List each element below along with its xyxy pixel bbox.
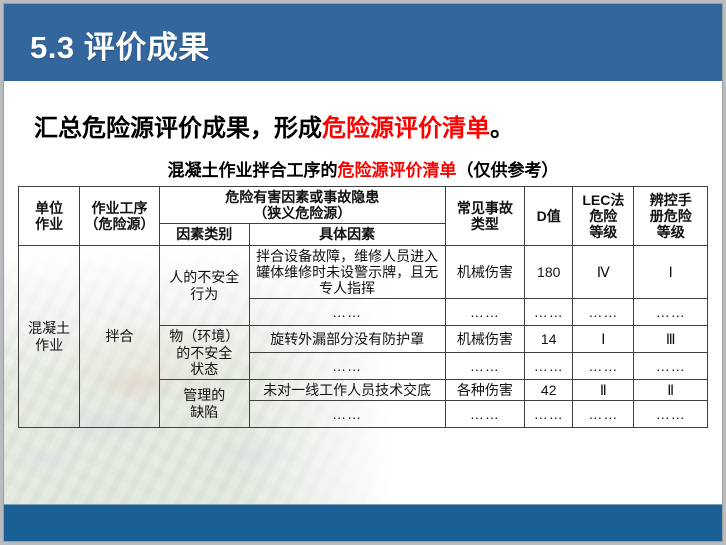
table-caption: 混凝土作业拌合工序的危险源评价清单（仅供参考） <box>4 156 722 181</box>
cell-lec-level-2: Ⅰ <box>573 326 634 353</box>
header-hazard-group-line2: （狭义危险源） <box>163 205 442 221</box>
cell-manual-level-3: Ⅱ <box>634 380 708 401</box>
cell-process-value: 拌合 <box>80 245 160 428</box>
risk-evaluation-table: 单位 作业 作业工序 （危险源） 危险有害因素或事故隐患 （狭义危险源） 常见事… <box>18 186 708 428</box>
cell-specific-factor-1-more: …… <box>249 299 445 326</box>
page-title: 5.3 评价成果 <box>30 22 210 67</box>
cell-accident-type-2: 机械伤害 <box>445 326 525 353</box>
cell-lec-level-1-more: …… <box>573 299 634 326</box>
header-manual-level: 辨控手 册危险 等级 <box>634 187 708 246</box>
header-accident-type-line2: 类型 <box>449 216 522 232</box>
factor-category-2-line3: 状态 <box>163 361 246 377</box>
header-hazard-group: 危险有害因素或事故隐患 （狭义危险源） <box>159 187 445 224</box>
slide-canvas: 5.3 评价成果 汇总危险源评价成果，形成危险源评价清单。 混凝土作业拌合工序的… <box>4 4 722 541</box>
cell-factor-category-3: 管理的 缺陷 <box>159 380 249 428</box>
header-unit-work: 单位 作业 <box>19 187 80 246</box>
header-process-line2: （危险源） <box>83 216 156 232</box>
cell-d-value-1: 180 <box>525 245 573 299</box>
cell-lec-level-1: Ⅳ <box>573 245 634 299</box>
cell-factor-category-1: 人的不安全 行为 <box>159 245 249 326</box>
table-header-row-1: 单位 作业 作业工序 （危险源） 危险有害因素或事故隐患 （狭义危险源） 常见事… <box>19 187 708 224</box>
cell-manual-level-2-more: …… <box>634 353 708 380</box>
cell-lec-level-3-more: …… <box>573 401 634 428</box>
cell-lec-level-3: Ⅱ <box>573 380 634 401</box>
headline-prefix: 汇总危险源评价成果，形成 <box>34 115 322 142</box>
cell-accident-type-3-more: …… <box>445 401 525 428</box>
cell-unit-work-value: 混凝土 作业 <box>19 245 80 428</box>
cell-specific-factor-1: 拌合设备故障，维修人员进入罐体维修时未设警示牌，且无专人指挥 <box>249 245 445 299</box>
header-d-value: D值 <box>525 187 573 246</box>
factor-category-2-line1: 物（环境） <box>163 328 246 344</box>
caption-highlight: 危险源评价清单 <box>338 161 457 180</box>
caption-prefix: 混凝土作业拌合工序的 <box>168 161 338 180</box>
cell-specific-factor-3-more: …… <box>249 401 445 428</box>
header-unit-work-line1: 单位 <box>22 200 76 216</box>
cell-specific-factor-3: 未对一线工作人员技术交底 <box>249 380 445 401</box>
cell-manual-level-3-more: …… <box>634 401 708 428</box>
headline-suffix: 。 <box>490 115 514 142</box>
cell-manual-level-2: Ⅲ <box>634 326 708 353</box>
caption-suffix: （仅供参考） <box>457 161 559 180</box>
header-lec-level-line3: 等级 <box>576 224 630 240</box>
header-manual-level-line2: 册危险 <box>637 208 704 224</box>
cell-accident-type-1: 机械伤害 <box>445 245 525 299</box>
cell-d-value-3: 42 <box>525 380 573 401</box>
cell-accident-type-1-more: …… <box>445 299 525 326</box>
cell-factor-category-2: 物（环境） 的不安全 状态 <box>159 326 249 380</box>
cell-d-value-2: 14 <box>525 326 573 353</box>
header-accident-type: 常见事故 类型 <box>445 187 525 246</box>
slide-title-bar: 5.3 评价成果 <box>4 4 722 81</box>
header-hazard-group-line1: 危险有害因素或事故隐患 <box>163 189 442 205</box>
headline: 汇总危险源评价成果，形成危险源评价清单。 <box>34 108 514 143</box>
header-accident-type-line1: 常见事故 <box>449 200 522 216</box>
cell-manual-level-1-more: …… <box>634 299 708 326</box>
header-process-line1: 作业工序 <box>83 200 156 216</box>
headline-highlight: 危险源评价清单 <box>322 115 490 142</box>
cell-d-value-1-more: …… <box>525 299 573 326</box>
header-factor-category: 因素类别 <box>159 224 249 245</box>
factor-category-1-line2: 行为 <box>163 286 246 302</box>
header-lec-level: LEC法 危险 等级 <box>573 187 634 246</box>
cell-accident-type-3: 各种伤害 <box>445 380 525 401</box>
cell-d-value-3-more: …… <box>525 401 573 428</box>
header-manual-level-line3: 等级 <box>637 224 704 240</box>
cell-manual-level-1: Ⅰ <box>634 245 708 299</box>
cell-specific-factor-2: 旋转外漏部分没有防护罩 <box>249 326 445 353</box>
header-unit-work-line2: 作业 <box>22 216 76 232</box>
factor-category-3-line1: 管理的 <box>163 387 246 403</box>
factor-category-1-line1: 人的不安全 <box>163 269 246 285</box>
header-lec-level-line2: 危险 <box>576 208 630 224</box>
table-row: 混凝土 作业 拌合 人的不安全 行为 拌合设备故障，维修人员进入罐体维修时未设警… <box>19 245 708 299</box>
header-manual-level-line1: 辨控手 <box>637 192 704 208</box>
cell-accident-type-2-more: …… <box>445 353 525 380</box>
cell-lec-level-2-more: …… <box>573 353 634 380</box>
header-specific-factor: 具体因素 <box>249 224 445 245</box>
factor-category-3-line2: 缺陷 <box>163 404 246 420</box>
header-lec-level-line1: LEC法 <box>576 192 630 208</box>
cell-specific-factor-2-more: …… <box>249 353 445 380</box>
unit-work-value-line1: 混凝土 <box>22 320 76 336</box>
cell-d-value-2-more: …… <box>525 353 573 380</box>
slide-footer-bar <box>4 504 722 541</box>
factor-category-2-line2: 的不安全 <box>163 345 246 361</box>
header-process: 作业工序 （危险源） <box>80 187 160 246</box>
unit-work-value-line2: 作业 <box>22 337 76 353</box>
